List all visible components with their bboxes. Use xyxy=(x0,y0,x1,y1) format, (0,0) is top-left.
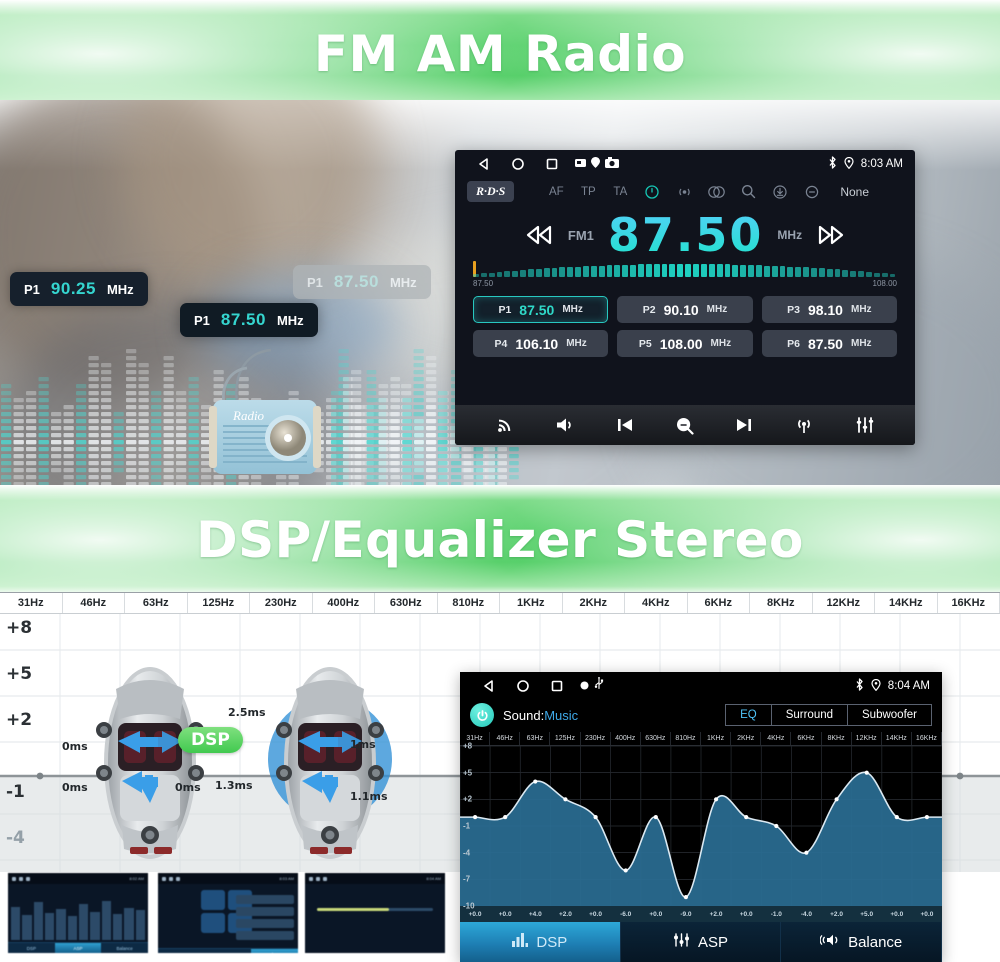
preset-frequency: 98.10 xyxy=(808,302,843,318)
thumb-nav-dot xyxy=(169,877,173,881)
delay-label-dsp-rear-left: 1.3ms xyxy=(215,779,253,792)
search-minus-icon[interactable] xyxy=(675,416,694,435)
dsp-band-values: +0.0+0.0+4.0+2.0+0.0-6.0+0.0-9.0+2.0+0.0… xyxy=(460,906,942,922)
tuning-tick xyxy=(725,264,731,277)
tuning-tick xyxy=(512,271,518,277)
tuning-tick xyxy=(748,265,754,277)
android-status-bar-dsp: 8:04 AM xyxy=(460,672,942,700)
dsp-chip-label: DSP xyxy=(178,727,243,753)
rds-control-row: R·D·S AF TP TA None xyxy=(455,178,915,206)
tuning-tick xyxy=(646,264,652,277)
preset-frequency: 106.10 xyxy=(515,336,558,352)
bluetooth-icon xyxy=(855,678,864,694)
tab-balance-label: Balance xyxy=(848,934,902,951)
sound-source-label: Sound:Music xyxy=(503,708,578,723)
thumb-status-bar: 8:04 AM xyxy=(305,873,445,884)
preset-number: P6 xyxy=(787,338,800,350)
preset-unit: MHz xyxy=(851,304,872,315)
tuning-tick xyxy=(638,264,644,277)
dsp-frequency-label: 400Hz xyxy=(611,732,641,745)
frequency-unit: MHz xyxy=(777,228,802,242)
preset-frequency: 87.50 xyxy=(519,302,554,318)
dsp-y-tick: +5 xyxy=(463,768,472,777)
delay-label-left-rear: 0ms xyxy=(62,781,88,794)
preset-button-p1[interactable]: P187.50MHz xyxy=(473,296,608,323)
bg-frequency-label: 4KHz xyxy=(625,593,688,613)
preset-label: P1 xyxy=(307,275,323,290)
thumb-nav-dot xyxy=(316,877,320,881)
status-tray xyxy=(575,155,619,173)
sound-prefix: Sound: xyxy=(503,708,544,723)
dsp-band-value[interactable]: +0.0 xyxy=(882,911,912,918)
thumb-menu-list xyxy=(236,895,294,943)
freq-pill-callout: P1 87.50 MHz xyxy=(180,303,318,337)
bg-frequency-label: 8KHz xyxy=(750,593,813,613)
equalizer-sliders-thumbnail[interactable]: 8:02 AM DSP ASP Balance xyxy=(8,873,148,953)
dsp-band-value[interactable]: +0.0 xyxy=(641,911,671,918)
tuning-tick xyxy=(795,267,801,277)
tuning-tick xyxy=(614,265,620,277)
thumb-nav-dot xyxy=(19,877,23,881)
tuning-tick xyxy=(756,265,762,277)
zoom-out-icon[interactable] xyxy=(796,185,828,199)
thumb-bass-slider[interactable] xyxy=(317,908,433,911)
retro-radio-illustration: Radio xyxy=(175,330,355,490)
dsp-band-value[interactable]: +5.0 xyxy=(852,911,882,918)
preset-grid: P187.50MHzP290.10MHzP398.10MHzP4106.10MH… xyxy=(455,288,915,363)
preset-value: 90.25 xyxy=(51,279,96,299)
dsp-y-tick: +2 xyxy=(463,795,472,804)
recents-square-icon[interactable] xyxy=(535,157,569,171)
tuning-tick xyxy=(599,266,605,277)
preset-button-p3[interactable]: P398.10MHz xyxy=(762,296,897,323)
dsp-frequency-label: 1KHz xyxy=(701,732,731,745)
bg-axis-label: +8 xyxy=(6,618,32,638)
dsp-frequency-label: 14KHz xyxy=(882,732,912,745)
tuning-tick xyxy=(740,265,746,277)
thumb-status-bar: 8:03 AM xyxy=(158,873,298,884)
home-circle-icon[interactable] xyxy=(506,679,540,693)
tuning-tick xyxy=(685,264,691,277)
dsp-frequency-axis: 31Hz46Hz63Hz125Hz230Hz400Hz630Hz810Hz1KH… xyxy=(460,732,942,746)
previous-track-icon[interactable] xyxy=(616,416,634,434)
preset-unit: MHz xyxy=(566,338,587,349)
freq-pill-callout: P1 90.25 MHz xyxy=(10,272,148,306)
radio-head-unit-screen: 8:03 AM R·D·S AF TP TA None FM1 87 xyxy=(455,150,915,445)
tuning-tick xyxy=(654,264,660,277)
thumb-content xyxy=(158,890,298,948)
tuning-tick xyxy=(701,264,707,277)
rds-af-button[interactable]: AF xyxy=(540,186,572,198)
scale-min-label: 87.50 xyxy=(473,279,493,288)
tuning-tick xyxy=(669,264,675,277)
dsp-y-tick: -4 xyxy=(463,848,470,857)
dsp-band-value[interactable]: +0.0 xyxy=(581,911,611,918)
rds-badge[interactable]: R·D·S xyxy=(467,181,514,202)
band-label[interactable]: FM1 xyxy=(568,228,594,243)
power-icon[interactable] xyxy=(470,703,494,727)
preset-frequency: 90.10 xyxy=(664,302,699,318)
bg-axis-label: -4 xyxy=(6,828,25,848)
page-title-radio: FM AM Radio xyxy=(314,25,686,83)
record-dot-icon xyxy=(580,677,589,695)
home-circle-icon[interactable] xyxy=(501,157,535,171)
tuning-tick xyxy=(882,273,888,277)
dsp-frequency-label: 8KHz xyxy=(822,732,852,745)
tuning-tick xyxy=(481,273,487,277)
tab-asp[interactable]: ASP xyxy=(621,922,782,962)
tuning-tick xyxy=(858,271,864,277)
scale-endpoints: 87.50 108.00 xyxy=(473,279,897,288)
rds-tp-button[interactable]: TP xyxy=(572,186,604,198)
preset-unit: MHz xyxy=(277,313,304,328)
tuning-tick xyxy=(732,265,738,277)
tuning-tick xyxy=(520,270,526,277)
tuning-tick xyxy=(787,267,793,277)
radio-title-banner: FM AM Radio xyxy=(0,0,1000,108)
car-diagram-with-dsp xyxy=(268,663,393,863)
bg-frequency-label: 1KHz xyxy=(500,593,563,613)
dsp-band-value[interactable]: +2.0 xyxy=(550,911,580,918)
radio-bottom-toolbar xyxy=(455,405,915,445)
thumb-tab-balance[interactable]: Balance xyxy=(251,949,298,953)
clock-time: 8:03 AM xyxy=(861,158,903,170)
equalizer-bars-icon xyxy=(512,933,528,951)
thumb-clock: 8:04 AM xyxy=(426,876,441,881)
search-icon[interactable] xyxy=(732,184,764,199)
tuning-tick xyxy=(630,265,636,277)
dsp-band-value[interactable]: -4.0 xyxy=(791,911,821,918)
thumb-nav-dot xyxy=(12,877,16,881)
dsp-y-tick: -10 xyxy=(463,902,475,911)
svg-text:Radio: Radio xyxy=(232,408,265,423)
tab-asp-label: ASP xyxy=(698,934,728,951)
dsp-band-value[interactable]: +2.0 xyxy=(701,911,731,918)
bg-frequency-label: 14KHz xyxy=(875,593,938,613)
status-bar-right: 8:03 AM xyxy=(828,156,903,172)
tuning-tick xyxy=(835,269,841,277)
tuning-tick xyxy=(709,264,715,277)
dsp-eq-chart[interactable]: +8+5+2-1-4-7-10 xyxy=(460,746,942,906)
bg-frequency-label: 6KHz xyxy=(688,593,751,613)
tab-subwoofer[interactable]: Subwoofer xyxy=(847,704,932,726)
tuning-tick xyxy=(607,265,613,277)
tuning-tick xyxy=(866,272,872,277)
dsp-frequency-label: 63Hz xyxy=(520,732,550,745)
dsp-head-unit-screen: 8:04 AM Sound:Music EQ Surround Subwoofe… xyxy=(460,672,942,962)
tuning-ticks xyxy=(473,263,897,277)
tuning-tick xyxy=(772,266,778,277)
camera-icon xyxy=(605,155,619,173)
signal-icon[interactable] xyxy=(668,185,700,199)
tuning-tick xyxy=(662,264,668,277)
preset-unit: MHz xyxy=(562,304,583,315)
preset-label: P1 xyxy=(194,313,210,328)
dsp-band-value[interactable]: -1.0 xyxy=(761,911,791,918)
android-status-bar: 8:03 AM xyxy=(455,150,915,178)
clock-icon[interactable] xyxy=(636,185,668,199)
tuning-scale[interactable]: 87.50 108.00 xyxy=(455,258,915,288)
sound-mode-tabs: EQ Surround Subwoofer xyxy=(726,704,932,726)
rds-ta-button[interactable]: TA xyxy=(604,186,636,198)
current-frequency: 87.50 xyxy=(608,212,764,258)
rds-none-label: None xyxy=(840,185,869,199)
broadcast-icon[interactable] xyxy=(794,416,814,434)
delay-label-left-front: 0ms xyxy=(62,740,88,753)
rss-signal-icon[interactable] xyxy=(496,416,514,434)
dsp-band-value[interactable]: +0.0 xyxy=(731,911,761,918)
preset-unit: MHz xyxy=(711,338,732,349)
gps-pin-icon xyxy=(844,157,854,172)
preset-value: 87.50 xyxy=(334,272,379,292)
tuning-tick xyxy=(717,264,723,277)
bg-frequency-label: 16KHz xyxy=(938,593,1000,613)
sd-card-icon xyxy=(575,155,586,173)
bluetooth-icon xyxy=(828,156,837,172)
dsp-band-value[interactable]: +0.0 xyxy=(490,911,520,918)
bg-frequency-label: 63Hz xyxy=(125,593,188,613)
dsp-y-tick: -1 xyxy=(463,822,470,831)
preset-unit: MHz xyxy=(107,282,134,297)
freq-pill-callout: P1 87.50 MHz xyxy=(293,265,431,299)
tuning-tick xyxy=(693,264,699,277)
bg-frequency-label: 12KHz xyxy=(813,593,876,613)
eq-curve[interactable] xyxy=(460,746,942,906)
dsp-frequency-label: 6KHz xyxy=(791,732,821,745)
bg-frequency-label: 230Hz xyxy=(250,593,313,613)
preset-number: P5 xyxy=(639,338,652,350)
bg-frequency-label: 125Hz xyxy=(188,593,251,613)
thumb-content xyxy=(8,884,148,942)
thumb-tab-balance[interactable]: Balance xyxy=(101,943,148,953)
thumb-nav-dot xyxy=(176,877,180,881)
bg-frequency-label: 31Hz xyxy=(0,593,63,613)
tuning-tick xyxy=(536,269,542,277)
rewind-icon[interactable] xyxy=(524,224,554,246)
dsp-frequency-label: 12KHz xyxy=(852,732,882,745)
dsp-frequency-label: 2KHz xyxy=(731,732,761,745)
thumb-content xyxy=(305,908,445,953)
page-title-dsp: DSP/Equalizer Stereo xyxy=(196,511,804,569)
dsp-frequency-label: 16KHz xyxy=(912,732,942,745)
thumb-slider-group xyxy=(8,884,148,942)
tuning-tick xyxy=(559,267,565,277)
tuning-tick xyxy=(552,268,558,277)
dsp-frequency-label: 810Hz xyxy=(671,732,701,745)
preset-number: P1 xyxy=(498,304,511,316)
tuning-tick xyxy=(803,267,809,277)
equalizer-sliders-icon[interactable] xyxy=(855,416,875,434)
preset-button-p5[interactable]: P5108.00MHz xyxy=(617,330,752,357)
bg-axis-label: +5 xyxy=(6,664,32,684)
thumb-nav-dot xyxy=(162,877,166,881)
scale-max-label: 108.00 xyxy=(873,279,897,288)
thumb-tab-dsp[interactable]: DSP xyxy=(158,949,205,953)
download-icon[interactable] xyxy=(764,185,796,199)
tuning-tick xyxy=(591,266,597,277)
dsp-band-value[interactable]: -9.0 xyxy=(671,911,701,918)
preset-label: P1 xyxy=(24,282,40,297)
speaker-waves-icon xyxy=(820,933,840,951)
tuning-tick xyxy=(504,271,510,277)
preset-unit: MHz xyxy=(390,275,417,290)
tuning-tick xyxy=(622,265,628,277)
thumb-bass-slider-fill xyxy=(317,908,389,911)
tuning-tick xyxy=(811,268,817,277)
tuning-tick xyxy=(575,267,581,277)
fast-forward-icon[interactable] xyxy=(816,224,846,246)
tab-dsp[interactable]: DSP xyxy=(460,922,621,962)
dsp-y-tick: +8 xyxy=(463,742,472,751)
sound-mode: Music xyxy=(544,708,578,723)
dsp-title-banner: DSP/Equalizer Stereo xyxy=(0,485,1000,595)
dsp-band-value[interactable]: +0.0 xyxy=(460,911,490,918)
preset-number: P2 xyxy=(643,304,656,316)
thumb-tab-dsp[interactable]: DSP xyxy=(8,943,55,953)
dsp-frequency-label: 125Hz xyxy=(550,732,580,745)
volume-icon[interactable] xyxy=(555,416,575,434)
thumb-tab-asp[interactable]: ASP xyxy=(55,943,102,953)
location-dot-icon xyxy=(591,155,600,173)
thumb-nav-dot xyxy=(323,877,327,881)
preset-value: 87.50 xyxy=(221,310,266,330)
thumb-tab-asp[interactable]: ASP xyxy=(205,949,252,953)
tuning-tick xyxy=(489,273,495,278)
background-frequency-axis: 31Hz46Hz63Hz125Hz230Hz400Hz630Hz810Hz1KH… xyxy=(0,592,1000,614)
sliders-icon xyxy=(673,933,690,951)
tuning-tick xyxy=(780,266,786,277)
tuning-tick xyxy=(850,271,856,277)
status-tray-dsp xyxy=(580,677,604,695)
recents-square-icon[interactable] xyxy=(540,679,574,693)
thumb-status-bar: 8:02 AM xyxy=(8,873,148,884)
delay-label-dsp-rear-right: 1.1ms xyxy=(350,790,388,803)
tuning-tick xyxy=(764,266,770,277)
gps-pin-icon xyxy=(871,679,881,694)
dsp-frequency-label: 630Hz xyxy=(641,732,671,745)
preset-frequency: 87.50 xyxy=(808,336,843,352)
delay-label-right-rear: 0ms xyxy=(175,781,201,794)
tab-surround[interactable]: Surround xyxy=(771,704,848,726)
tuning-tick xyxy=(890,274,896,277)
bg-axis-label: -1 xyxy=(6,782,25,802)
bg-axis-label: +2 xyxy=(6,710,32,730)
preset-button-p4[interactable]: P4106.10MHz xyxy=(473,330,608,357)
tab-balance[interactable]: Balance xyxy=(781,922,942,962)
thumb-tabs: DSP ASP Balance xyxy=(158,948,298,953)
thumb-tabs: DSP ASP Balance xyxy=(8,942,148,953)
stereo-icon[interactable] xyxy=(700,185,732,199)
delay-label-dsp-right: 1ms xyxy=(350,738,376,751)
preset-number: P4 xyxy=(495,338,508,350)
thumb-clock: 8:02 AM xyxy=(129,876,144,881)
tab-dsp-label: DSP xyxy=(536,934,567,951)
status-bar-right-dsp: 8:04 AM xyxy=(855,678,930,694)
tuning-tick xyxy=(677,264,683,277)
back-triangle-icon[interactable] xyxy=(467,157,501,171)
bg-frequency-label: 46Hz xyxy=(63,593,126,613)
tuning-tick xyxy=(528,269,534,277)
tuning-tick xyxy=(819,268,825,277)
tuning-tick xyxy=(497,272,503,277)
clock-time-dsp: 8:04 AM xyxy=(888,680,930,692)
next-track-icon[interactable] xyxy=(735,416,753,434)
dsp-frequency-label: 230Hz xyxy=(581,732,611,745)
preset-frequency: 108.00 xyxy=(660,336,703,352)
thumb-nav-dot xyxy=(309,877,313,881)
dsp-bottom-tabs: DSP ASP Balance xyxy=(460,922,942,962)
preset-button-p6[interactable]: P687.50MHz xyxy=(762,330,897,357)
thumb-nav-dot xyxy=(26,877,30,881)
delay-label-dsp-front: 2.5ms xyxy=(228,706,266,719)
bass-boost-thumbnail[interactable]: 8:04 AM DSP ASP Balance xyxy=(305,873,445,953)
dsp-frequency-label: 46Hz xyxy=(490,732,520,745)
bg-frequency-label: 400Hz xyxy=(313,593,376,613)
bg-frequency-label: 2KHz xyxy=(563,593,626,613)
dsp-frequency-label: 4KHz xyxy=(761,732,791,745)
car-diagram-without-dsp xyxy=(88,663,213,863)
tuner-row: FM1 87.50 MHz xyxy=(455,206,915,258)
usb-icon xyxy=(594,677,604,695)
dsp-y-tick: -7 xyxy=(463,875,470,884)
preset-unit: MHz xyxy=(851,338,872,349)
tuning-tick xyxy=(544,268,550,277)
tab-eq[interactable]: EQ xyxy=(725,704,772,726)
preset-unit: MHz xyxy=(707,304,728,315)
dsp-band-value[interactable]: +2.0 xyxy=(822,911,852,918)
thumb-clock: 8:03 AM xyxy=(279,876,294,881)
tuning-tick xyxy=(842,270,848,277)
bg-frequency-label: 630Hz xyxy=(375,593,438,613)
dsp-band-value[interactable]: +4.0 xyxy=(520,911,550,918)
bg-frequency-label: 810Hz xyxy=(438,593,501,613)
back-triangle-icon[interactable] xyxy=(472,679,506,693)
tuning-tick xyxy=(827,269,833,277)
tuning-tick xyxy=(473,274,479,277)
tuning-tick xyxy=(583,266,589,277)
seat-position-thumbnail[interactable]: 8:03 AM DSP ASP Balance xyxy=(158,873,298,953)
preset-button-p2[interactable]: P290.10MHz xyxy=(617,296,752,323)
preset-number: P3 xyxy=(787,304,800,316)
dsp-band-value[interactable]: +0.0 xyxy=(912,911,942,918)
tuning-tick xyxy=(874,273,880,278)
tuning-tick xyxy=(567,267,573,277)
dsp-band-value[interactable]: -6.0 xyxy=(611,911,641,918)
sound-mode-row: Sound:Music EQ Surround Subwoofer xyxy=(460,700,942,732)
